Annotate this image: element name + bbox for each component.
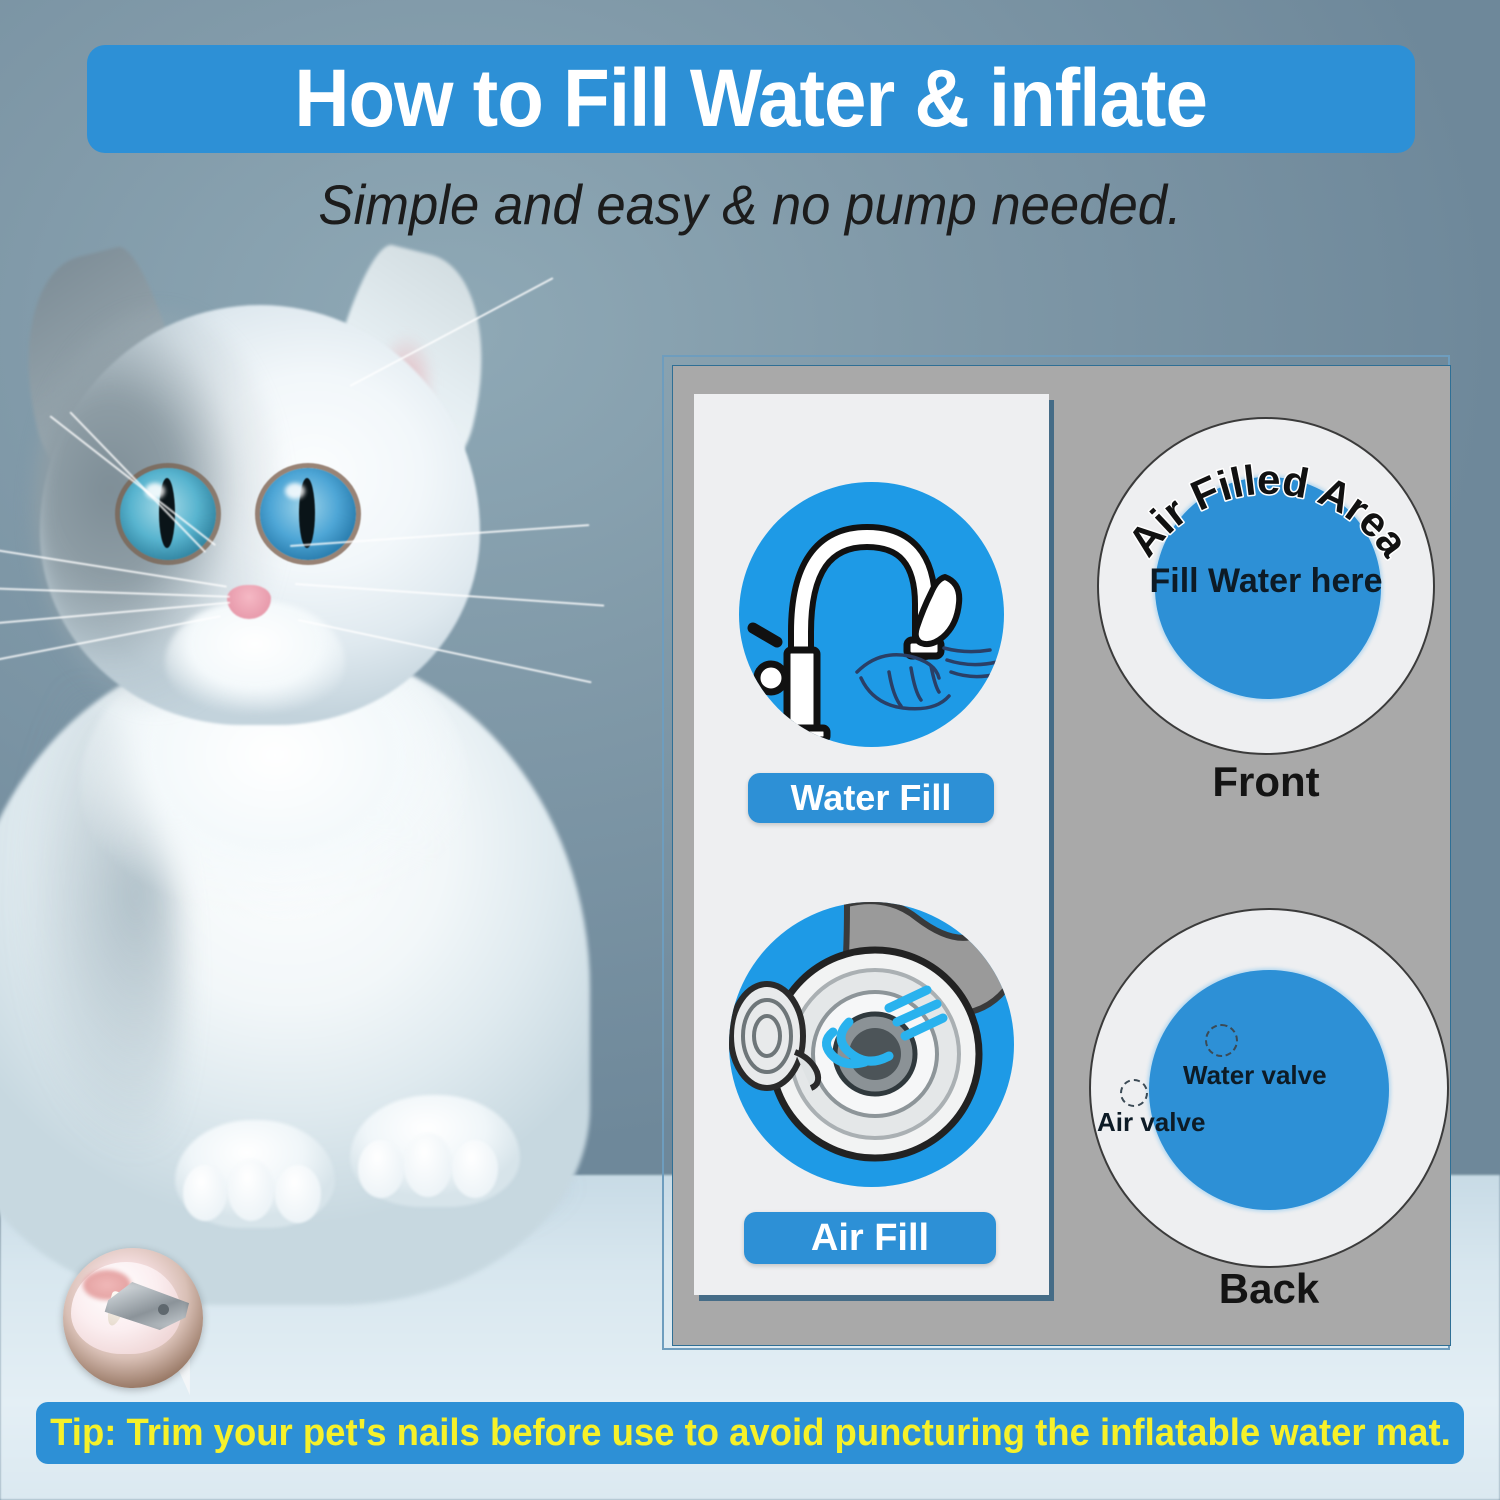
air-valve-marker (1120, 1079, 1148, 1107)
back-caption: Back (1089, 1265, 1449, 1313)
cat-toe (452, 1140, 498, 1198)
cat-muzzle (165, 600, 345, 725)
cat-illustration (0, 215, 690, 1295)
nail-clipper-callout (63, 1248, 203, 1388)
infographic-root: How to Fill Water & inflate Simple and e… (0, 0, 1500, 1500)
tip-text: Tip: Trim your pet's nails before use to… (50, 1412, 1451, 1455)
front-caption: Front (1097, 758, 1435, 806)
product-view-back: Water valve Air valve (1089, 908, 1449, 1268)
cat-toe (358, 1140, 404, 1198)
air-valve-icon (729, 902, 1014, 1187)
cat-toe (183, 1165, 227, 1221)
air-valve-label: Air valve (1097, 1107, 1205, 1138)
steps-card: Water Fill (694, 394, 1049, 1295)
tip-banner: Tip: Trim your pet's nails before use to… (36, 1402, 1464, 1464)
step-label-air-fill: Air Fill (744, 1212, 996, 1264)
cat-toe (275, 1165, 321, 1223)
page-title-bar: How to Fill Water & inflate (87, 45, 1415, 153)
water-valve-marker (1205, 1024, 1238, 1057)
step-label-water-fill: Water Fill (748, 773, 994, 823)
front-arc-label: Air Filled Area (1119, 456, 1418, 566)
faucet-icon (739, 482, 1004, 747)
front-arc-label-svg: Air Filled Area (1099, 419, 1437, 757)
clipper-hole (158, 1304, 169, 1315)
page-subtitle: Simple and easy & no pump needed. (45, 172, 1455, 237)
product-view-front: Fill Water here Air Filled Area (1097, 417, 1435, 755)
water-valve-label: Water valve (1183, 1060, 1327, 1091)
cat-toe (404, 1133, 452, 1197)
page-title: How to Fill Water & inflate (295, 58, 1208, 140)
cat-eye-highlight-right (285, 483, 305, 499)
cat-toe (228, 1159, 274, 1221)
